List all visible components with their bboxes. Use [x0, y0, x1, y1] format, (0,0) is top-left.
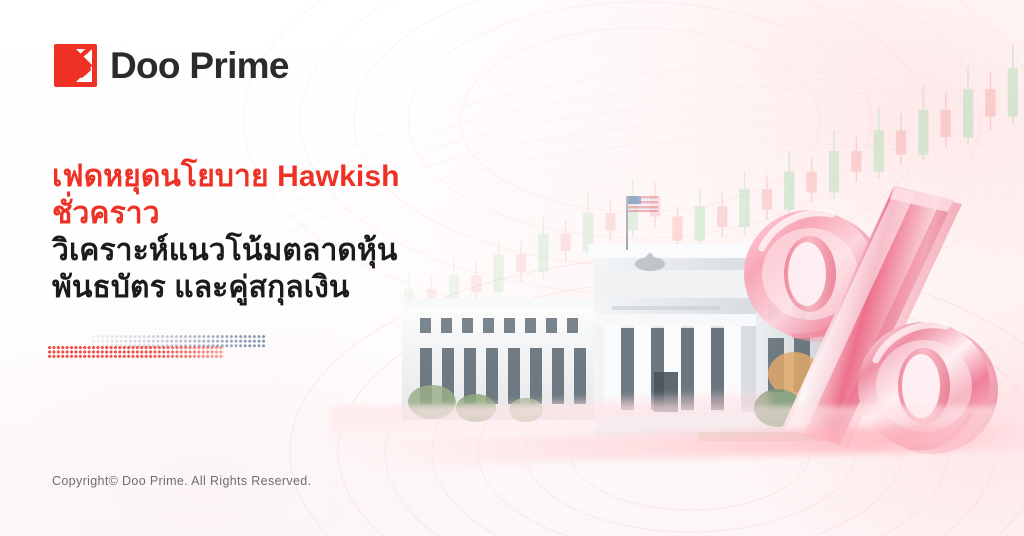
- headline-block: เฟดหยุดนโยบาย Hawkish ชั่วคราว วิเคราะห์…: [52, 158, 522, 306]
- doo-prime-logo-mark: [54, 44, 97, 87]
- promotional-banner: Doo Prime เฟดหยุดนโยบาย Hawkish ชั่วคราว…: [0, 0, 1024, 536]
- headline-line-2: ชั่วคราว: [52, 195, 522, 232]
- halftone-bar-red: [48, 346, 224, 359]
- halftone-decoration: [48, 334, 288, 364]
- copyright-text: Copyright© Doo Prime. All Rights Reserve…: [52, 474, 311, 488]
- headline-line-1: เฟดหยุดนโยบาย Hawkish: [52, 158, 522, 195]
- brand-wordmark: Doo Prime: [110, 47, 289, 84]
- headline-line-4: พันธบัตร และคู่สกุลเงิน: [52, 269, 522, 306]
- headline-line-3: วิเคราะห์แนวโน้มตลาดหุ้น: [52, 232, 522, 269]
- brand-logo[interactable]: Doo Prime: [54, 44, 289, 87]
